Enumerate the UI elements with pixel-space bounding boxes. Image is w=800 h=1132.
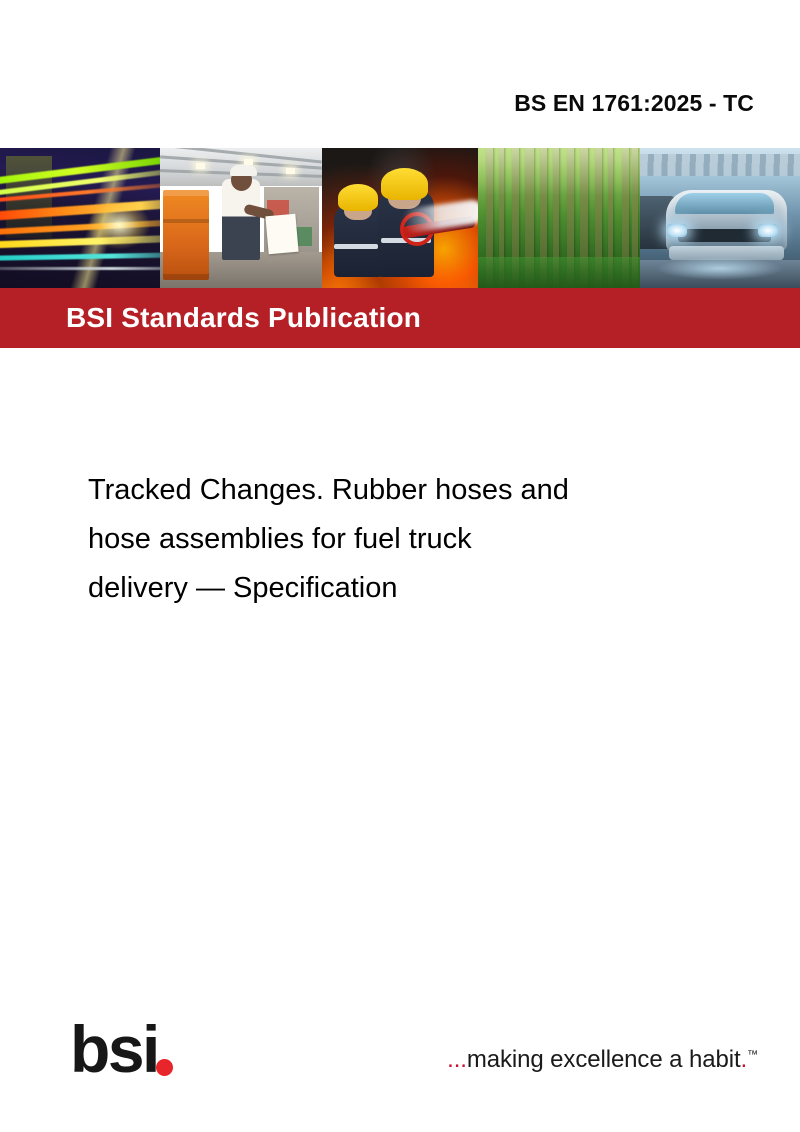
light-trail bbox=[0, 252, 160, 261]
standards-publication-banner: BSI Standards Publication bbox=[0, 288, 800, 348]
bsi-wordmark: bsi bbox=[70, 1016, 158, 1082]
page-title: Tracked Changes. Rubber hoses and hose a… bbox=[88, 466, 708, 613]
ceiling-lamp bbox=[196, 163, 205, 169]
bsi-tagline: ...making excellence a habit.™ bbox=[447, 1046, 758, 1074]
ceiling-lamp bbox=[286, 168, 295, 174]
reflective-stripe bbox=[334, 244, 378, 249]
page-title-line-2: hose assemblies for fuel truck bbox=[88, 515, 708, 564]
cover-image-night-traffic-light-trails bbox=[0, 148, 160, 288]
paperwork-sheet bbox=[265, 214, 298, 254]
light-trail bbox=[0, 267, 160, 270]
cover-image-forest bbox=[478, 148, 640, 288]
firefighter-rear-helmet bbox=[338, 184, 378, 211]
tagline-leading-dots: ... bbox=[447, 1046, 467, 1073]
overhead-conveyor-rail bbox=[640, 154, 800, 176]
orange-crate bbox=[163, 190, 209, 280]
document-number: BS EN 1761:2025 - TC bbox=[514, 90, 754, 117]
trademark-icon: ™ bbox=[747, 1049, 758, 1061]
cover-image-car-production-line bbox=[640, 148, 800, 288]
page-title-line-1: Tracked Changes. Rubber hoses and bbox=[88, 466, 708, 515]
cover-image-warehouse-worker bbox=[160, 148, 322, 288]
tagline-text: making excellence a habit bbox=[467, 1046, 741, 1073]
forest-undergrowth bbox=[478, 257, 640, 288]
worker-cap bbox=[230, 165, 257, 176]
headlight-floor-glow bbox=[656, 257, 784, 279]
firefighter-front-helmet bbox=[381, 168, 428, 200]
car-windshield bbox=[675, 193, 774, 214]
car-grille bbox=[678, 229, 771, 242]
cover-image-firefighters bbox=[322, 148, 478, 288]
page-title-line-3: delivery — Specification bbox=[88, 564, 708, 613]
headlight-glow bbox=[88, 201, 150, 249]
banner-label: BSI Standards Publication bbox=[66, 302, 421, 334]
car-headlight-left bbox=[667, 224, 687, 237]
bsi-logo: bsi bbox=[70, 1018, 190, 1080]
bsi-logo-dot bbox=[156, 1059, 173, 1076]
cover-image-strip bbox=[0, 148, 800, 288]
car-headlight-right bbox=[758, 224, 778, 237]
